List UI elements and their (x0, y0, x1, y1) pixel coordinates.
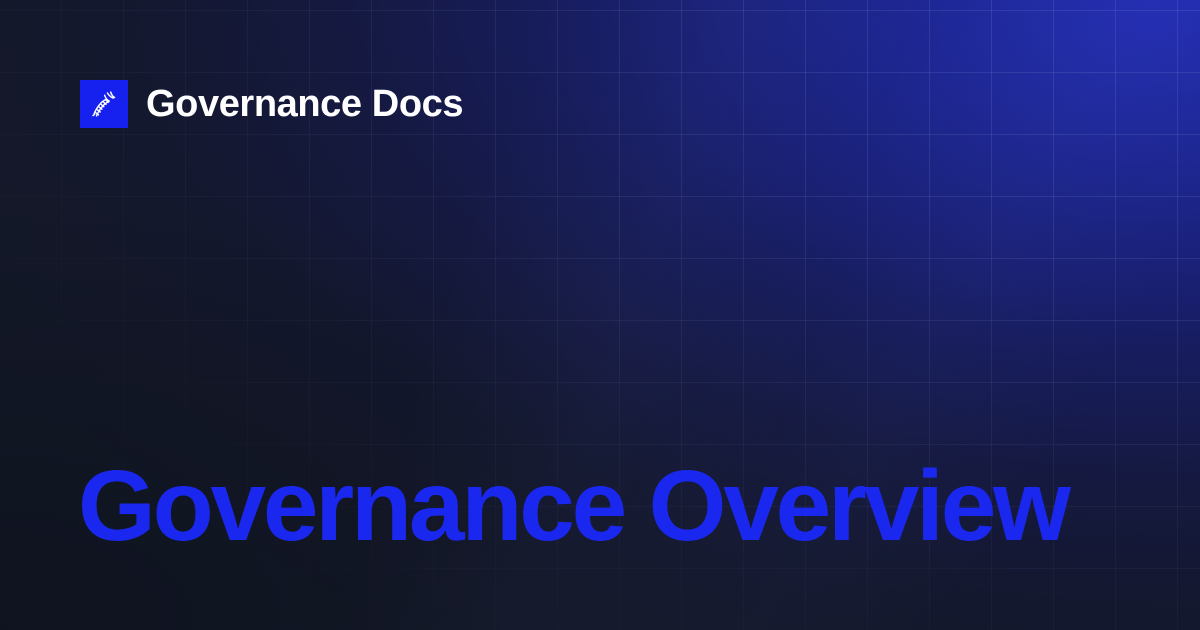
og-card: Governance Docs Governance Overview (0, 0, 1200, 630)
card-content: Governance Docs Governance Overview (0, 0, 1200, 630)
dna-helix-icon (88, 88, 120, 120)
brand-logo-tile (80, 80, 128, 128)
page-title: Governance Overview (78, 454, 1120, 558)
brand-name: Governance Docs (146, 85, 463, 123)
brand-lockup: Governance Docs (80, 80, 463, 128)
